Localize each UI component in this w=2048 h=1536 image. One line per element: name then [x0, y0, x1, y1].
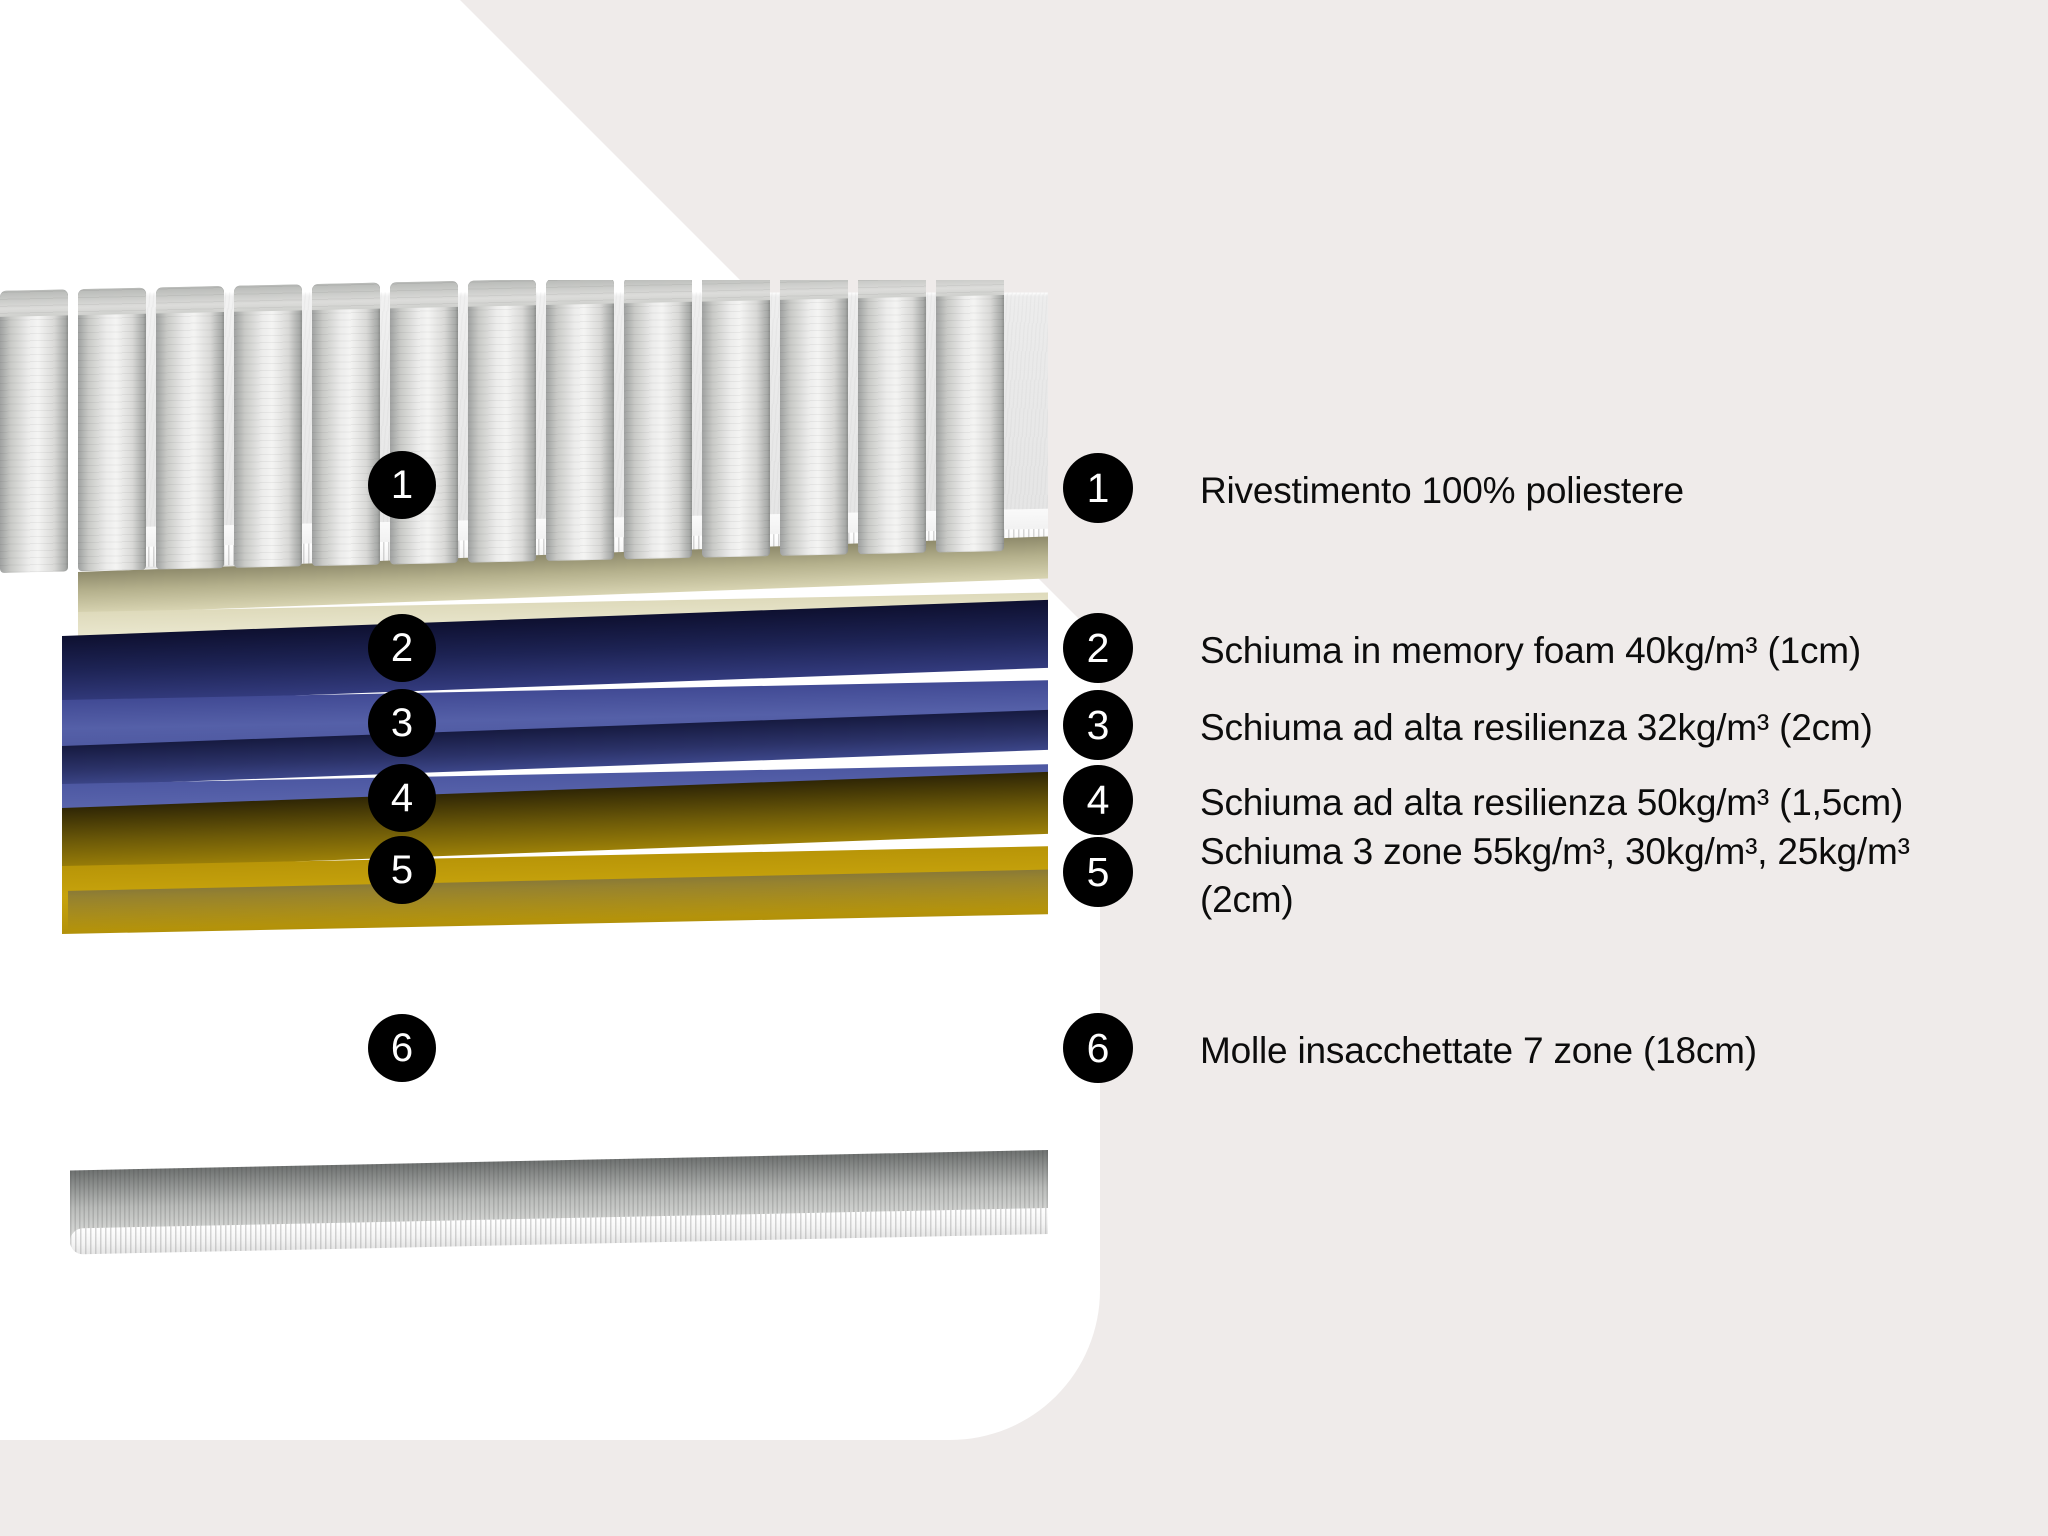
- pocket-spring: [546, 280, 614, 561]
- pocket-spring: [780, 280, 848, 556]
- mattress-illustration: 1 2 3 4 5 6: [0, 280, 1048, 1260]
- legend-badge-5: 5: [1063, 837, 1133, 907]
- pocket-spring: [390, 281, 458, 564]
- legend-badge-1: 1: [1063, 453, 1133, 523]
- pocket-spring: [156, 286, 224, 569]
- pocket-spring: [78, 288, 146, 571]
- legend-badge-3: 3: [1063, 690, 1133, 760]
- pocket-spring: [468, 280, 536, 563]
- legend-badge-4: 4: [1063, 765, 1133, 835]
- callout-badge-2: 2: [368, 614, 436, 682]
- legend-label-5: Schiuma 3 zone 55kg/m³, 30kg/m³, 25kg/m³…: [1200, 828, 2000, 924]
- callout-badge-3: 3: [368, 689, 436, 757]
- legend-badge-2: 2: [1063, 613, 1133, 683]
- legend: 1 Rivestimento 100% poliestere 2 Schiuma…: [1063, 0, 2003, 1536]
- pocket-spring: [234, 284, 302, 567]
- pocket-spring: [936, 280, 1004, 552]
- pocket-spring: [702, 280, 770, 558]
- callout-badge-6: 6: [368, 1014, 436, 1082]
- pocket-spring: [0, 289, 68, 572]
- pocket-spring: [858, 280, 926, 554]
- legend-label-4: Schiuma ad alta resilienza 50kg/m³ (1,5c…: [1200, 779, 2000, 827]
- legend-badge-6: 6: [1063, 1013, 1133, 1083]
- legend-label-3: Schiuma ad alta resilienza 32kg/m³ (2cm): [1200, 704, 2000, 752]
- callout-badge-5: 5: [368, 836, 436, 904]
- pocket-spring: [312, 283, 380, 566]
- legend-label-1: Rivestimento 100% poliestere: [1200, 467, 2000, 515]
- callout-badge-4: 4: [368, 764, 436, 832]
- legend-label-2: Schiuma in memory foam 40kg/m³ (1cm): [1200, 627, 2000, 675]
- pocket-spring: [624, 280, 692, 559]
- legend-label-6: Molle insacchettate 7 zone (18cm): [1200, 1027, 2000, 1075]
- layer-6-pocket-springs: [0, 280, 1000, 573]
- callout-badge-1: 1: [368, 451, 436, 519]
